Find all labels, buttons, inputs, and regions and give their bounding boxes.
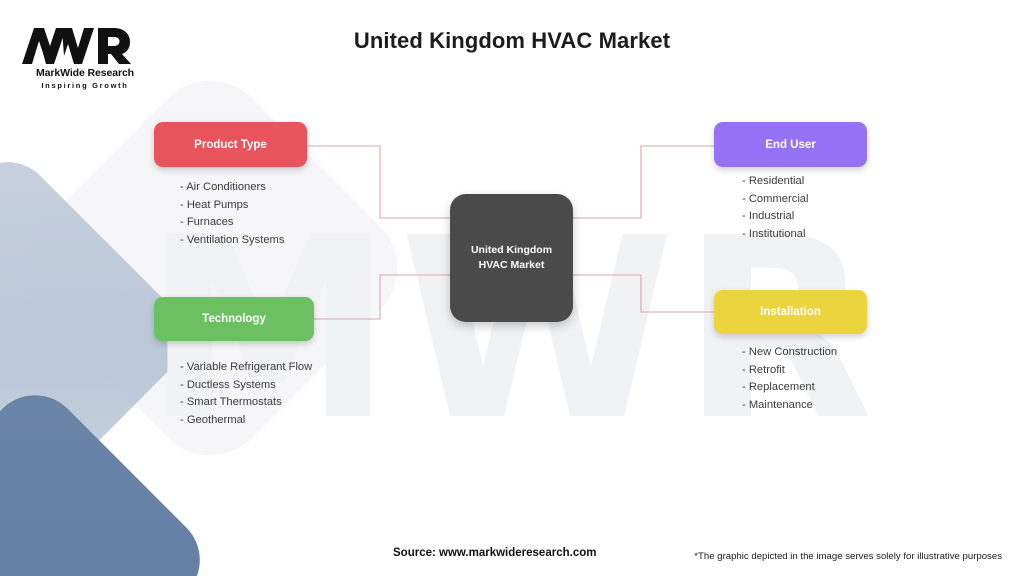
branch-node-technology[interactable]: Technology (154, 297, 314, 341)
branch-items-end-user: - Residential - Commercial - Industrial … (742, 173, 809, 243)
branch-node-installation[interactable]: Installation (714, 290, 867, 334)
branch-label-installation: Installation (760, 306, 821, 318)
branch-label-product-type: Product Type (194, 139, 267, 151)
list-item: - Ductless Systems (180, 377, 312, 395)
list-item: - Institutional (742, 226, 809, 244)
list-item: - Retrofit (742, 362, 837, 380)
list-item: - Maintenance (742, 397, 837, 415)
branch-items-product-type: - Air Conditioners - Heat Pumps - Furnac… (180, 179, 284, 249)
hub-line-2: HVAC Market (471, 258, 552, 273)
list-item: - Variable Refrigerant Flow (180, 359, 312, 377)
list-item: - Air Conditioners (180, 179, 284, 197)
branch-label-technology: Technology (202, 313, 266, 325)
list-item: - Residential (742, 173, 809, 191)
hub-line-1: United Kingdom (471, 243, 552, 258)
list-item: - Geothermal (180, 412, 312, 430)
list-item: - Ventilation Systems (180, 232, 284, 250)
list-item: - New Construction (742, 344, 837, 362)
list-item: - Commercial (742, 191, 809, 209)
branch-items-installation: - New Construction - Retrofit - Replacem… (742, 344, 837, 414)
branch-node-end-user[interactable]: End User (714, 122, 867, 167)
list-item: - Replacement (742, 379, 837, 397)
branch-node-product-type[interactable]: Product Type (154, 122, 307, 167)
branch-items-technology: - Variable Refrigerant Flow - Ductless S… (180, 359, 312, 429)
page-title: United Kingdom HVAC Market (0, 28, 1024, 54)
list-item: - Heat Pumps (180, 197, 284, 215)
branch-label-end-user: End User (765, 139, 816, 151)
list-item: - Furnaces (180, 214, 284, 232)
list-item: - Smart Thermostats (180, 394, 312, 412)
logo-tagline: Inspiring Growth (20, 81, 150, 90)
logo-company-name: MarkWide Research (20, 67, 150, 79)
hub-node: United Kingdom HVAC Market (450, 194, 573, 322)
list-item: - Industrial (742, 208, 809, 226)
footer-disclaimer: *The graphic depicted in the image serve… (694, 551, 1002, 562)
footer-source: Source: www.markwideresearch.com (393, 547, 596, 559)
